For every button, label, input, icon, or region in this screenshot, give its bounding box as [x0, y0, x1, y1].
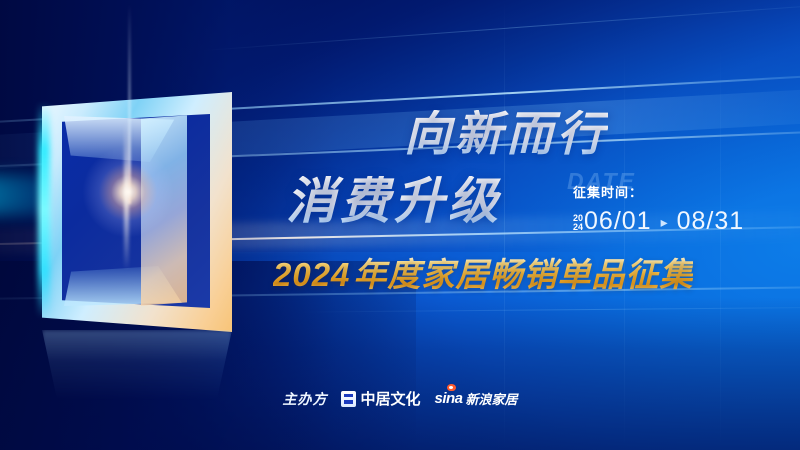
date-range: 20 24 06/01 ▸ 08/31	[573, 207, 778, 236]
sponsor-zhongju-logo[interactable]: 中居文化	[341, 388, 420, 409]
organizer-label: 主办方	[282, 389, 327, 409]
page-subtitle-headline: 消费升级	[286, 176, 502, 226]
sina-wordmark: sina	[434, 390, 462, 407]
door-light-burst-icon	[126, 190, 130, 194]
door-portal-graphic	[42, 92, 232, 332]
page-title: 向新而行	[404, 110, 608, 157]
sponsor-sina-logo[interactable]: sina 新浪家居	[434, 389, 517, 408]
date-label: 征集时间：	[573, 182, 778, 201]
sponsor-zhongju-name: 中居文化	[360, 388, 420, 409]
date-year: 20 24	[573, 214, 583, 236]
zhongju-mark-icon	[341, 391, 356, 407]
date-end: 08/31	[677, 207, 745, 236]
campaign-subtitle-text: 年度家居畅销单品征集	[353, 256, 693, 293]
sponsor-sina-name: 新浪家居	[466, 389, 518, 408]
date-year-bottom: 24	[573, 223, 583, 232]
footer-sponsors: 主办方 中居文化 sina 新浪家居	[0, 388, 800, 409]
campaign-subtitle: 2024年度家居畅销单品征集	[273, 256, 693, 295]
sina-eye-icon	[447, 384, 456, 391]
date-separator-icon: ▸	[661, 214, 668, 231]
campaign-year: 2024	[273, 256, 353, 293]
promo-banner: 向新而行 消费升级 DATE 征集时间： 20 24 06/01 ▸ 08/31…	[0, 0, 800, 450]
date-block: DATE 征集时间： 20 24 06/01 ▸ 08/31	[573, 182, 778, 236]
door-edge-glow	[38, 102, 50, 318]
date-start: 06/01	[584, 207, 652, 236]
